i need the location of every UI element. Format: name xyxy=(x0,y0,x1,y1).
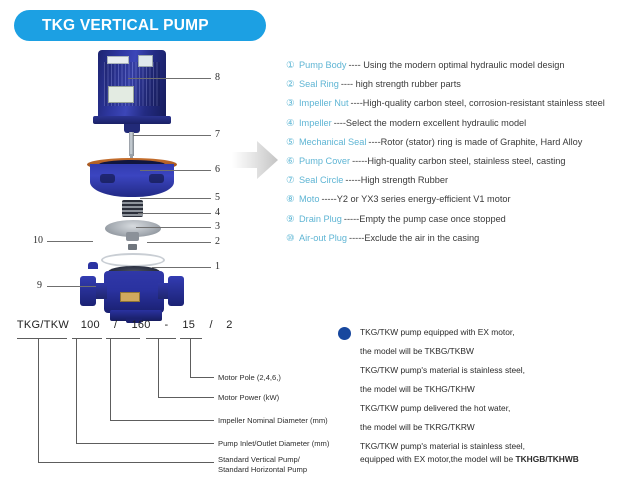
feature-description: ---- Using the modern optimal hydraulic … xyxy=(349,60,565,70)
feature-item: ① Pump Body ---- Using the modern optima… xyxy=(286,60,617,79)
code-segment-inlet: 100 xyxy=(75,319,105,331)
callout-leader-9 xyxy=(47,286,96,287)
feature-description: -----High strength Rubber xyxy=(345,175,448,185)
motor-mounting-flange xyxy=(93,116,171,124)
motor-nameplate-top xyxy=(107,56,129,64)
code-separator-2: - xyxy=(159,319,173,331)
legend-line-final: equipped with EX motor,the model will be… xyxy=(360,454,579,464)
code-separator-1: / xyxy=(109,319,123,331)
callout-leader-2 xyxy=(147,242,211,243)
feature-circle-number: ③ xyxy=(286,98,299,109)
callout-number-1: 1 xyxy=(215,261,220,272)
feature-circle-number: ⑥ xyxy=(286,156,299,167)
leader-prefix-vertical xyxy=(38,338,39,462)
code-separator-3: / xyxy=(204,319,218,331)
callout-number-9: 9 xyxy=(37,280,42,291)
callout-leader-8 xyxy=(128,78,211,79)
motor-terminal-box xyxy=(138,55,153,67)
feature-part-name: Pump Cover xyxy=(299,156,350,166)
callout-leader-5 xyxy=(140,198,211,199)
leader-impeller-horizontal xyxy=(110,420,214,421)
feature-part-name: Seal Ring xyxy=(299,79,339,89)
casing-brand-plate xyxy=(120,292,140,302)
feature-item: ⑩ Air-out Plug -----Exclude the air in t… xyxy=(286,233,617,252)
callout-leader-10 xyxy=(47,241,93,242)
impeller-hub xyxy=(126,232,139,241)
callout-number-2: 2 xyxy=(215,236,220,247)
page-canvas: TKG VERTICAL PUMP xyxy=(0,0,617,500)
pump-exploded-illustration xyxy=(60,48,230,298)
legend-line: the model will be TKRG/TKRW xyxy=(360,422,475,432)
feature-part-name: Mechanical Seal xyxy=(299,137,366,147)
callout-number-3: 3 xyxy=(215,221,220,232)
feature-item: ⑤ Mechanical Seal ----Rotor (stator) rin… xyxy=(286,137,617,156)
callout-leader-6 xyxy=(140,170,211,171)
feature-description: -----Y2 or YX3 series energy-efficient V… xyxy=(321,194,510,204)
callout-number-7: 7 xyxy=(215,129,220,140)
pump-cover-window-right xyxy=(149,174,164,183)
callout-number-5: 5 xyxy=(215,192,220,203)
feature-part-name: Impeller Nut xyxy=(299,98,349,108)
callout-leader-3 xyxy=(136,227,211,228)
code-segment-pole: 2 xyxy=(222,319,238,331)
legend-line: TKG/TKW pump delivered the hot water, xyxy=(360,403,510,413)
page-title: TKG VERTICAL PUMP xyxy=(14,17,209,35)
feature-circle-number: ⑤ xyxy=(286,137,299,148)
model-label-standard-horizontal: Standard Horizontal Pump xyxy=(218,465,307,474)
legend-final-text: equipped with EX motor,the model will be xyxy=(360,454,516,464)
legend-line: TKG/TKW pump equipped with EX motor, xyxy=(360,327,515,337)
feature-description: -----High-quality carbon steel, stainles… xyxy=(352,156,565,166)
code-underline-prefix xyxy=(17,338,67,339)
leader-prefix-horizontal xyxy=(38,462,214,463)
model-code-breakdown: TKG/TKW 100 / 160 - 15 / 2 Motor Pole (2… xyxy=(0,310,617,500)
feature-item: ③ Impeller Nut ----High-quality carbon s… xyxy=(286,98,617,117)
leader-pole-horizontal xyxy=(190,377,214,378)
transition-arrow-icon xyxy=(232,141,278,179)
feature-part-name: Drain Plug xyxy=(299,214,342,224)
leader-power-horizontal xyxy=(158,397,214,398)
leader-power-vertical xyxy=(158,338,159,397)
mechanical-seal xyxy=(122,200,143,217)
callout-leader-4 xyxy=(138,213,211,214)
feature-part-name: Seal Circle xyxy=(299,175,343,185)
callout-number-10: 10 xyxy=(33,235,43,246)
feature-circle-number: ⑨ xyxy=(286,214,299,225)
code-underline-power xyxy=(146,338,176,339)
legend-final-model: TKHGB/TKHWB xyxy=(516,454,579,464)
feature-item: ⑦ Seal Circle -----High strength Rubber xyxy=(286,175,617,194)
leader-inlet-horizontal xyxy=(76,443,214,444)
model-code-row: TKG/TKW 100 / 160 - 15 / 2 xyxy=(14,319,238,331)
leader-inlet-vertical xyxy=(76,338,77,443)
model-label-power: Motor Power (kW) xyxy=(218,393,279,402)
outlet-flange xyxy=(168,276,184,306)
pump-cover-window-left xyxy=(100,174,115,183)
callout-number-6: 6 xyxy=(215,164,220,175)
legend-line: the model will be TKHG/TKHW xyxy=(360,384,475,394)
feature-description: ----Rotor (stator) ring is made of Graph… xyxy=(368,137,582,147)
callout-number-8: 8 xyxy=(215,72,220,83)
seal-ring-oring xyxy=(101,253,165,267)
feature-item: ② Seal Ring ---- high strength rubber pa… xyxy=(286,79,617,98)
feature-part-name: Impeller xyxy=(299,118,332,128)
feature-item: ⑧ Moto -----Y2 or YX3 series energy-effi… xyxy=(286,194,617,213)
feature-list: ① Pump Body ---- Using the modern optima… xyxy=(286,60,617,252)
impeller-nut xyxy=(128,244,137,250)
code-underline-pole xyxy=(180,338,202,339)
callout-leader-7 xyxy=(133,135,211,136)
feature-item: ⑨ Drain Plug -----Empty the pump case on… xyxy=(286,214,617,233)
leader-pole-vertical xyxy=(190,338,191,377)
page-title-banner: TKG VERTICAL PUMP xyxy=(14,10,266,41)
callout-leader-1 xyxy=(152,267,211,268)
feature-circle-number: ⑩ xyxy=(286,233,299,244)
feature-description: ---- high strength rubber parts xyxy=(341,79,461,89)
code-segment-prefix: TKG/TKW xyxy=(14,319,72,331)
inlet-flange xyxy=(80,276,96,306)
feature-description: -----Exclude the air in the casing xyxy=(349,233,479,243)
feature-circle-number: ⑧ xyxy=(286,194,299,205)
model-label-standard-vertical: Standard Vertical Pump/ xyxy=(218,455,300,464)
feature-part-name: Moto xyxy=(299,194,319,204)
feature-part-name: Air-out Plug xyxy=(299,233,347,243)
legend-line: TKG/TKW pump's material is stainless ste… xyxy=(360,441,525,451)
legend-line: the model will be TKBG/TKBW xyxy=(360,346,474,356)
feature-item: ⑥ Pump Cover -----High-quality carbon st… xyxy=(286,156,617,175)
legend-bullet-icon xyxy=(338,327,351,340)
feature-part-name: Pump Body xyxy=(299,60,347,70)
feature-circle-number: ④ xyxy=(286,118,299,129)
leader-impeller-vertical xyxy=(110,338,111,420)
feature-circle-number: ⑦ xyxy=(286,175,299,186)
code-underline-impeller xyxy=(106,338,140,339)
feature-description: -----Empty the pump case once stopped xyxy=(344,214,506,224)
motor-nameplate-side xyxy=(108,86,134,103)
feature-circle-number: ② xyxy=(286,79,299,90)
feature-circle-number: ① xyxy=(286,60,299,71)
code-segment-impeller: 160 xyxy=(126,319,156,331)
feature-description: ----High-quality carbon steel, corrosion… xyxy=(351,98,605,108)
feature-description: ----Select the modern excellent hydrauli… xyxy=(334,118,527,128)
model-label-impeller: Impeller Nominal Diameter (mm) xyxy=(218,416,328,425)
feature-item: ④ Impeller ----Select the modern excelle… xyxy=(286,118,617,137)
model-label-pole: Motor Pole (2,4,6,) xyxy=(218,373,281,382)
model-label-inlet: Pump Inlet/Outlet Diameter (mm) xyxy=(218,439,329,448)
code-segment-power: 15 xyxy=(177,319,201,331)
legend-line: TKG/TKW pump's material is stainless ste… xyxy=(360,365,525,375)
callout-number-4: 4 xyxy=(215,207,220,218)
